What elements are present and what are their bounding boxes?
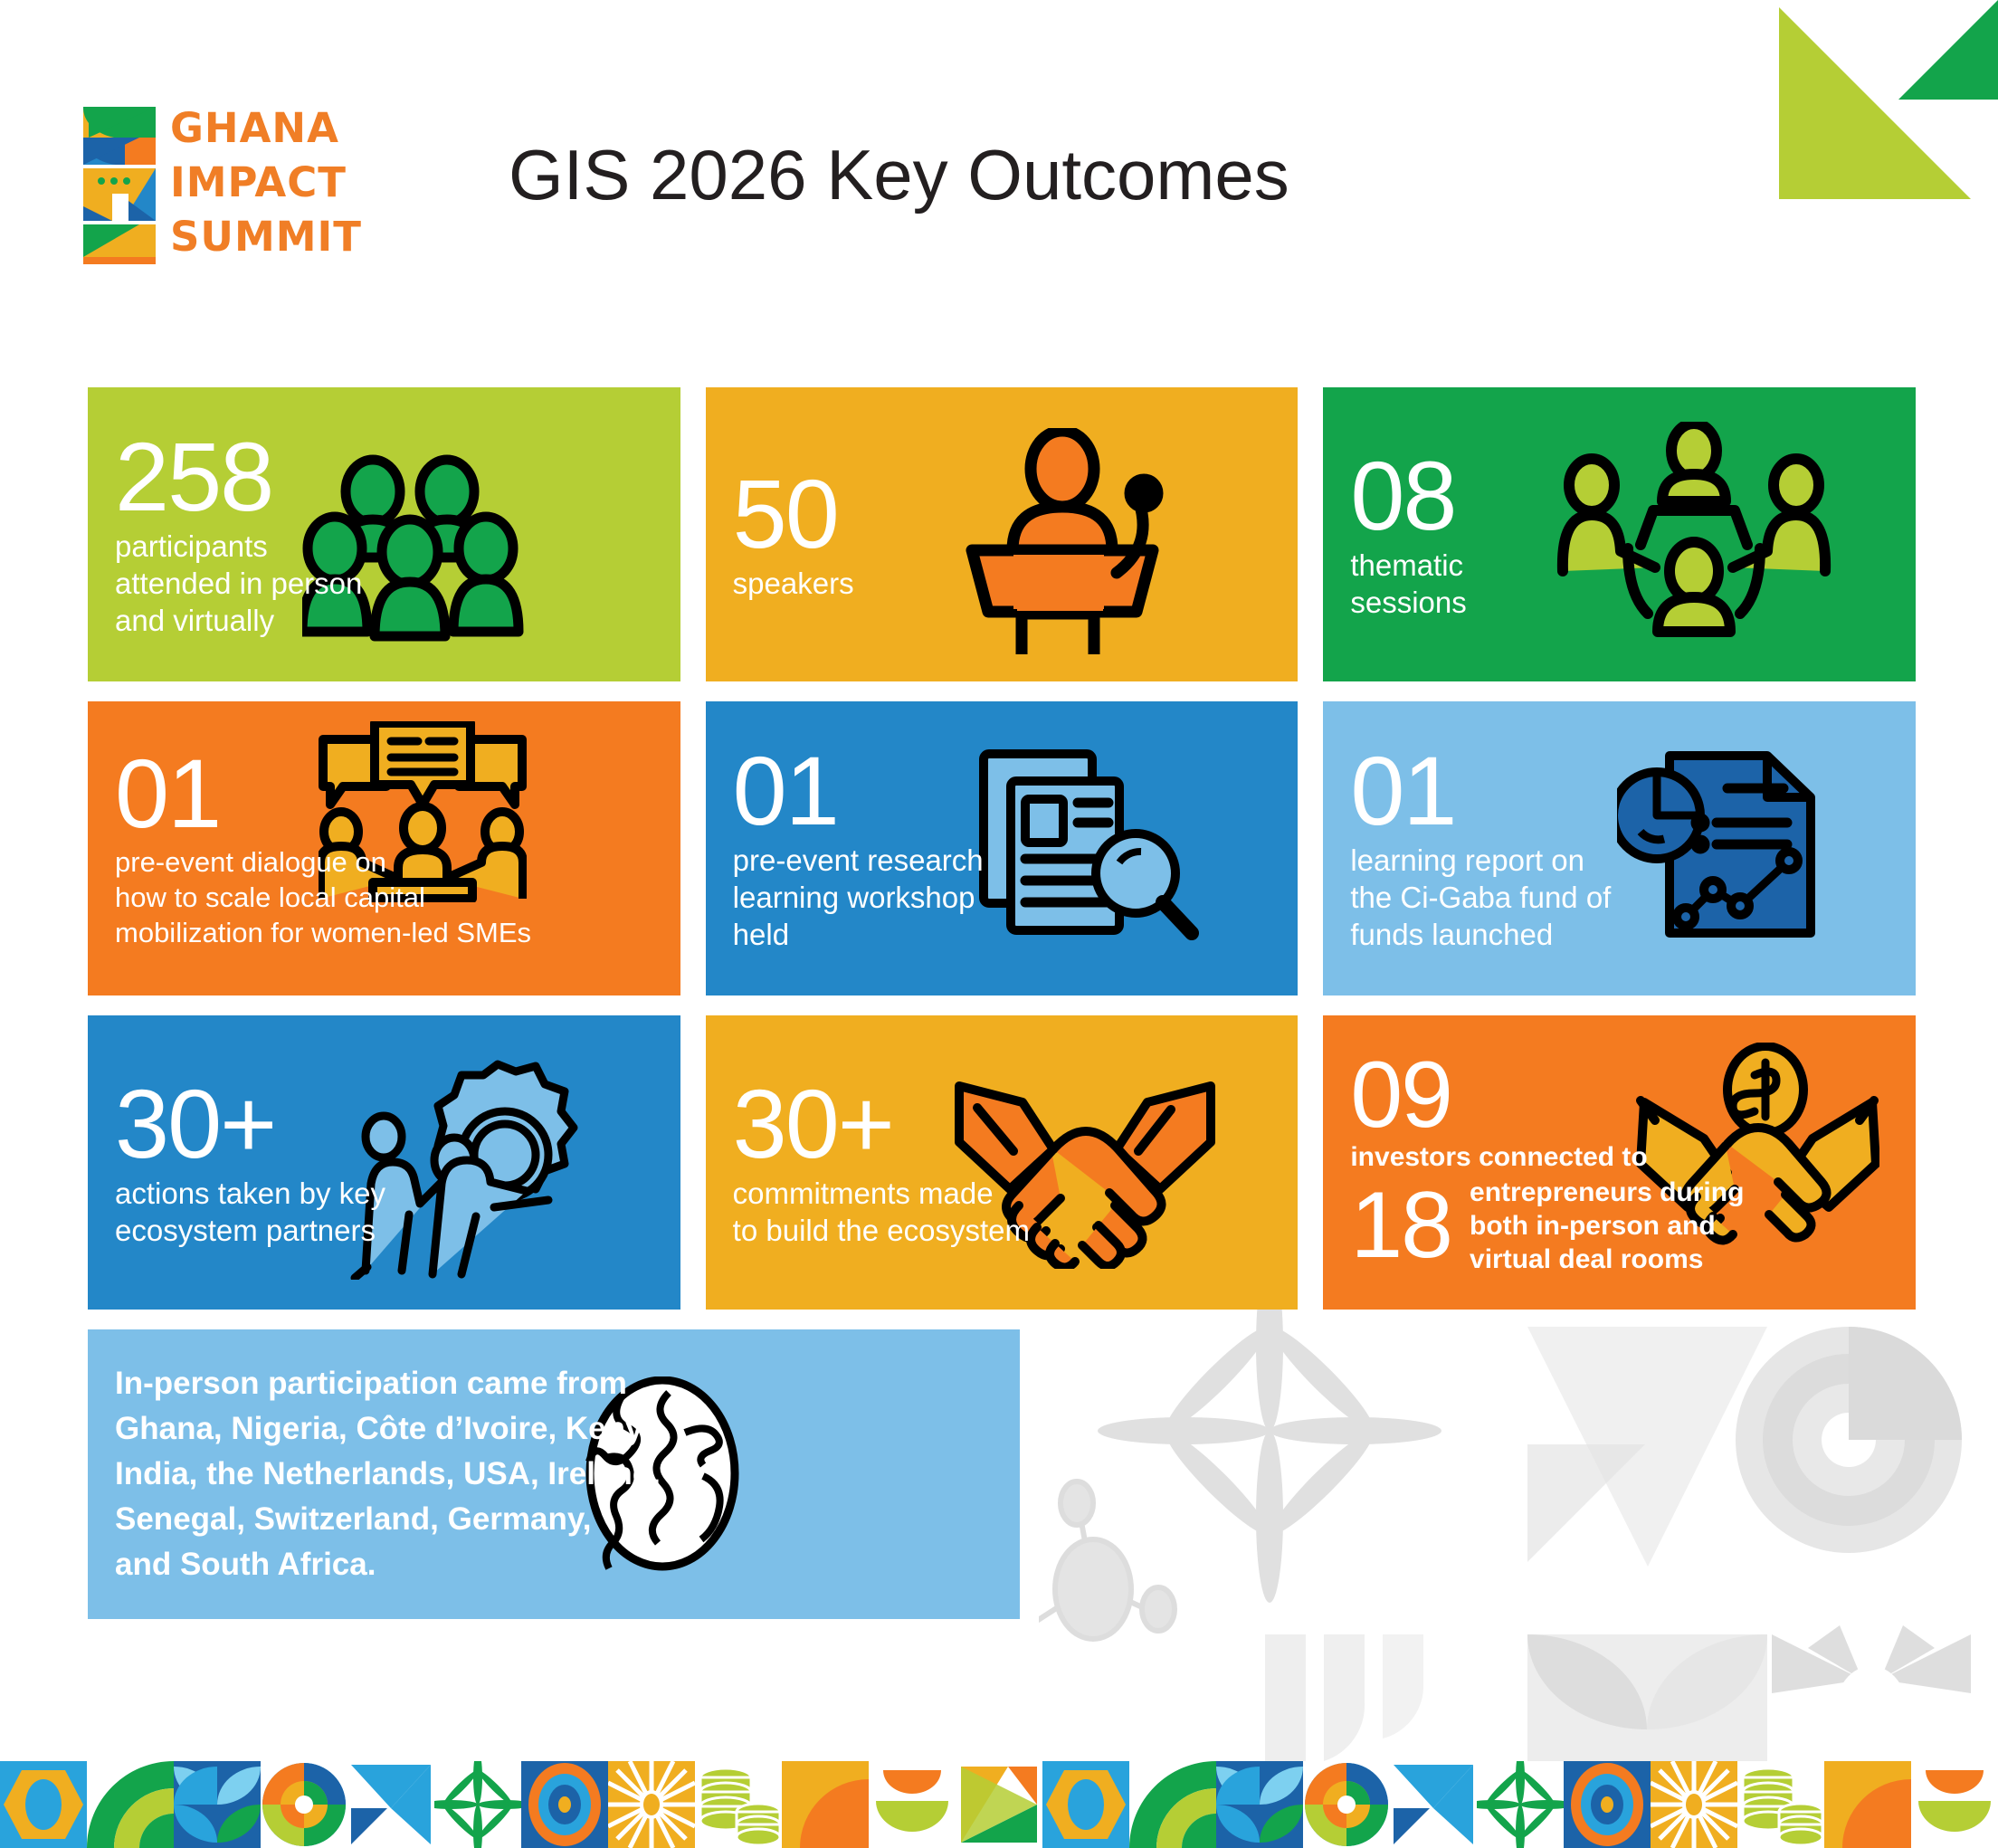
tile-stacked-coins	[1737, 1761, 1824, 1848]
tile-triangles	[1390, 1761, 1477, 1848]
tile-sunburst-rays	[608, 1761, 695, 1848]
tile-bullseye-target	[1564, 1761, 1651, 1848]
outcomes-grid: 258 participants attended in person and …	[88, 387, 1916, 1639]
entrepreneurs-text: entrepreneurs during both in-person and …	[1470, 1176, 1744, 1276]
tile-diagonal-blocks	[956, 1761, 1042, 1848]
grid-row-1: 258 participants attended in person and …	[88, 387, 1916, 681]
decorative-pattern-strip	[0, 1761, 1998, 1848]
tile-target-quadrants	[261, 1761, 347, 1848]
tile-triangles	[347, 1761, 434, 1848]
card-in-person-participation: In-person participation came from Ghana,…	[88, 1329, 1020, 1619]
card-number: 50	[733, 467, 1149, 561]
tile-starburst-leaves	[434, 1761, 521, 1848]
tile-starburst-leaves	[1477, 1761, 1564, 1848]
card-number: 01	[1350, 744, 1766, 838]
card-number: 30+	[733, 1077, 1149, 1171]
card-commitments-made: 30+ commitments made to build the ecosys…	[706, 1015, 1299, 1310]
logo[interactable]: GHANA IMPACT SUMMIT	[83, 101, 391, 264]
tile-bullseye-target	[521, 1761, 608, 1848]
card-label: pre-event research learning workshop hel…	[733, 842, 1149, 953]
card-investors-entrepreneurs: 09 investors connected to 18 entrepreneu…	[1323, 1015, 1916, 1310]
logo-line-3: SUMMIT	[170, 210, 362, 264]
tile-stacked-coins	[695, 1761, 782, 1848]
tile-double-bowl	[1911, 1761, 1998, 1848]
tile-hexagon-ring	[0, 1761, 87, 1848]
card-label: actions taken by key ecosystem partners	[115, 1175, 531, 1249]
tile-sunburst-rays	[1651, 1761, 1737, 1848]
card-label: learning report on the Ci-Gaba fund of f…	[1350, 842, 1766, 953]
infographic-page: GHANA IMPACT SUMMIT GIS 2026 Key Outcome…	[0, 0, 1998, 1848]
tile-arcs-rainbow	[87, 1761, 174, 1848]
card-thematic-sessions: 08 thematic sessions	[1323, 387, 1916, 681]
card-label: thematic sessions	[1350, 547, 1766, 621]
tile-hexagon-ring	[1042, 1761, 1129, 1848]
grid-row-4: In-person participation came from Ghana,…	[88, 1329, 1916, 1619]
card-number: 08	[1350, 449, 1766, 543]
tile-arcs-rainbow	[1129, 1761, 1216, 1848]
card-pre-event-dialogue: 01 pre-event dialogue on how to scale lo…	[88, 701, 680, 995]
card-research-workshop: 01 pre-event research learning workshop …	[706, 701, 1299, 995]
grid-row-2: 01 pre-event dialogue on how to scale lo…	[88, 701, 1916, 995]
investors-text: investors connected to	[1350, 1140, 1821, 1174]
corner-triangles-decoration	[1763, 0, 1998, 208]
card-number: 30+	[115, 1077, 531, 1171]
card-number: 258	[115, 430, 531, 524]
tile-quarter-arc-square	[782, 1761, 869, 1848]
investors-number: 09	[1350, 1050, 1821, 1140]
card-participants: 258 participants attended in person and …	[88, 387, 680, 681]
tile-tulip-petals	[1216, 1761, 1303, 1848]
card-actions-taken: 30+ actions taken by key ecosystem partn…	[88, 1015, 680, 1310]
logo-line-1: GHANA	[170, 101, 362, 156]
card-number: 01	[733, 744, 1149, 838]
logo-line-2: IMPACT	[170, 156, 362, 210]
page-title: GIS 2026 Key Outcomes	[509, 134, 1289, 216]
participation-text: In-person participation came from Ghana,…	[115, 1361, 694, 1587]
card-speakers: 50 speakers	[706, 387, 1299, 681]
tile-target-quadrants	[1303, 1761, 1390, 1848]
tile-double-bowl	[869, 1761, 956, 1848]
grid-row-3: 30+ actions taken by key ecosystem partn…	[88, 1015, 1916, 1310]
card-label: pre-event dialogue on how to scale local…	[115, 844, 585, 950]
card-label: participants attended in person and virt…	[115, 528, 531, 639]
card-label: commitments made to build the ecosystem	[733, 1175, 1149, 1249]
ghana-impact-summit-logo-mark	[83, 107, 156, 270]
card-label: speakers	[733, 565, 1149, 602]
card-number: 01	[115, 747, 585, 841]
logo-wordmark: GHANA IMPACT SUMMIT	[170, 101, 362, 264]
tile-quarter-arc-square	[1824, 1761, 1911, 1848]
tile-tulip-petals	[174, 1761, 261, 1848]
card-learning-report: 01 learning report on the Ci-Gaba fund o…	[1323, 701, 1916, 995]
header: GHANA IMPACT SUMMIT GIS 2026 Key Outcome…	[0, 0, 1998, 271]
entrepreneurs-number: 18	[1350, 1180, 1451, 1271]
